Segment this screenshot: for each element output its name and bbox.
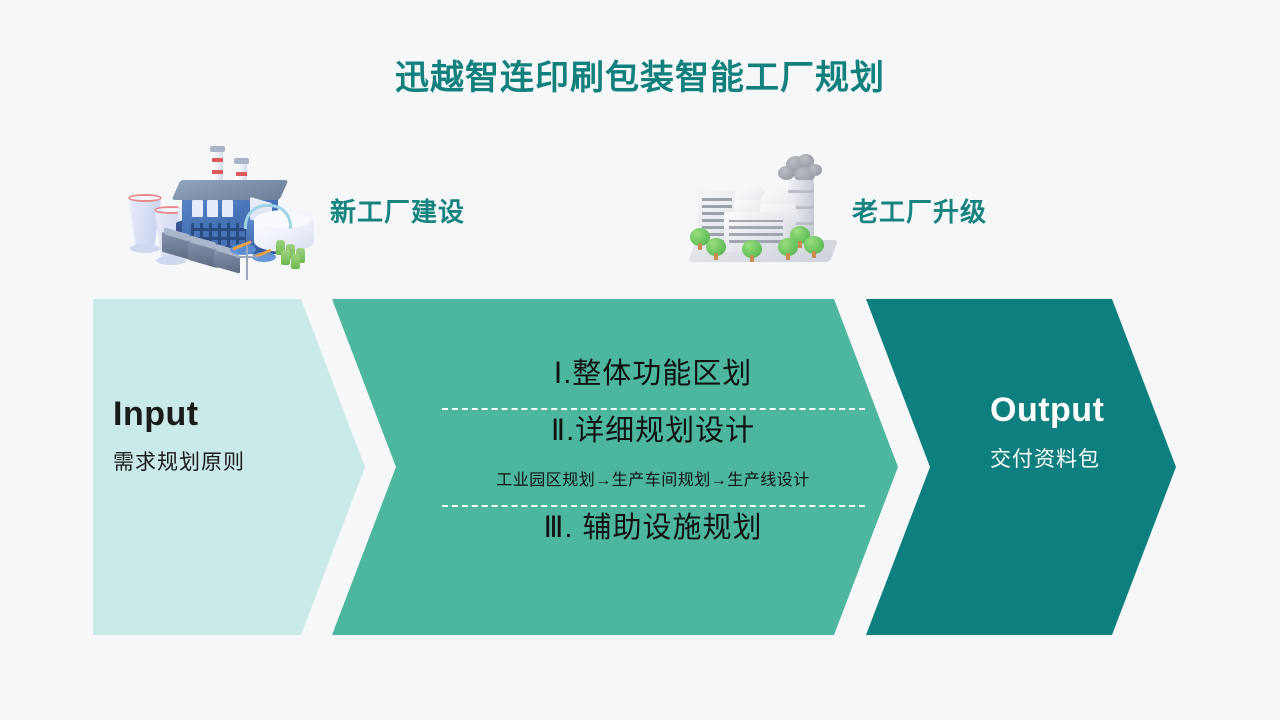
input-subtitle: 需求规划原则 xyxy=(113,446,245,476)
output-text-group: Output 交付资料包 xyxy=(990,392,1104,473)
new-factory-isometric-icon xyxy=(126,148,316,273)
planning-items-group: Ⅰ.整体功能区划 Ⅱ.详细规划设计 工业园区规划→生产车间规划→生产线设计 Ⅲ.… xyxy=(418,330,888,546)
input-title: Input xyxy=(113,396,245,433)
planning-item-3: Ⅲ. 辅助设施规划 xyxy=(418,510,888,546)
input-text-group: Input 需求规划原则 xyxy=(113,396,245,476)
scenario-label-old-factory: 老工厂升级 xyxy=(852,192,987,229)
scenario-old-factory[interactable]: 老工厂升级 xyxy=(690,154,987,266)
planning-note: 工业园区规划→生产车间规划→生产线设计 xyxy=(418,466,888,490)
scenario-new-factory[interactable]: 新工厂建设 xyxy=(126,148,465,273)
divider-1 xyxy=(442,408,865,410)
planning-item-1: Ⅰ.整体功能区划 xyxy=(418,356,888,392)
output-title: Output xyxy=(990,392,1104,429)
scenario-label-new-factory: 新工厂建设 xyxy=(330,192,465,229)
output-subtitle: 交付资料包 xyxy=(990,443,1104,473)
planning-item-2: Ⅱ.详细规划设计 xyxy=(418,413,888,449)
divider-2 xyxy=(442,505,865,507)
scenario-row: 新工厂建设 xyxy=(0,140,1280,280)
page-title: 迅越智连印刷包装智能工厂规划 xyxy=(0,50,1280,99)
old-factory-isometric-icon xyxy=(690,154,838,266)
slide-canvas: 迅越智连印刷包装智能工厂规划 xyxy=(0,0,1280,720)
